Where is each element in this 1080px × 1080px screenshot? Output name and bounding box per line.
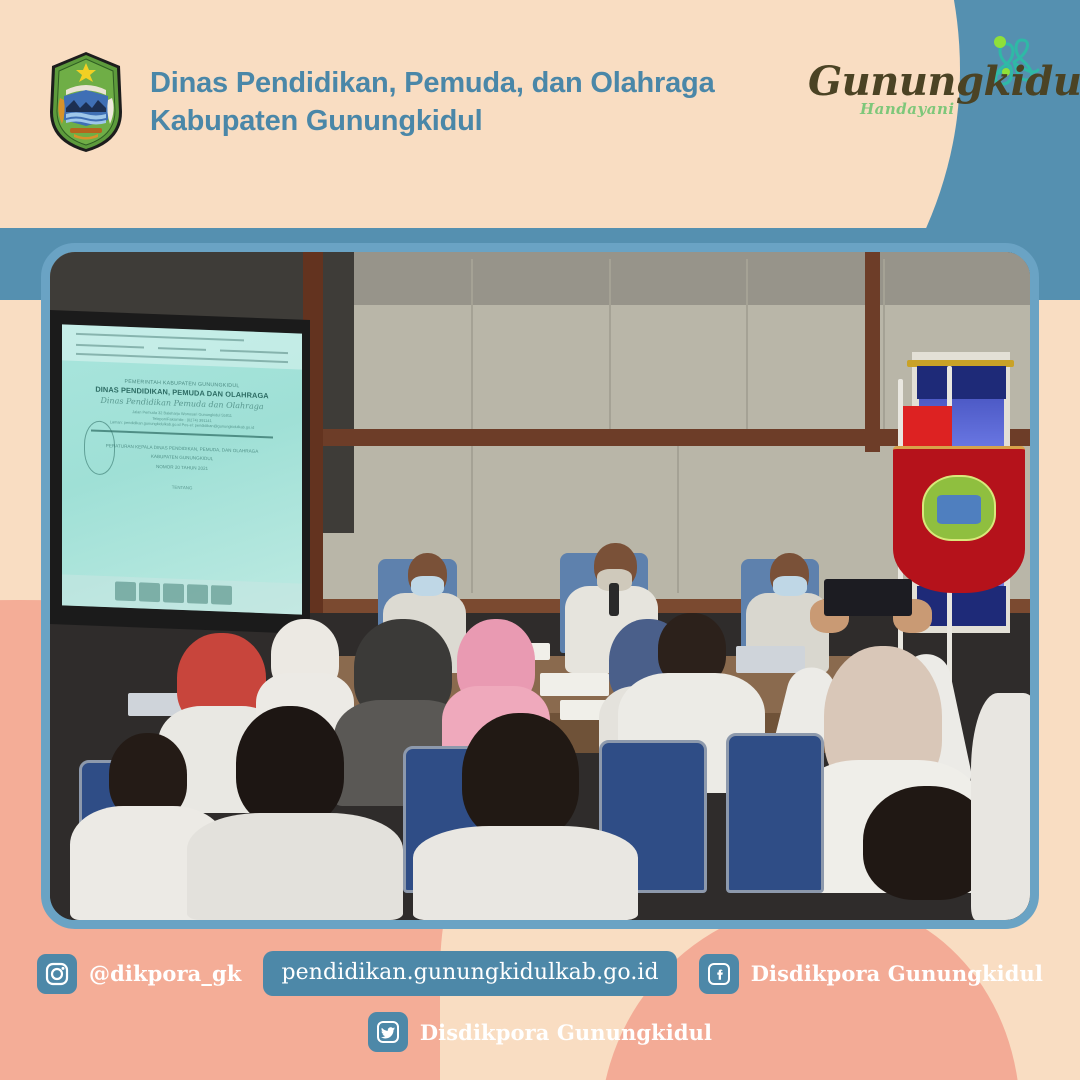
attendee-body (971, 693, 1039, 920)
gunungkidul-brand-mark: Gunungkidul Handayani (808, 42, 1038, 138)
banner-crest-icon (922, 475, 996, 541)
instagram-account[interactable]: @dikpora_gk (37, 954, 241, 994)
brand-wordmark: Gunungkidul (808, 58, 1080, 105)
wall-seam (471, 446, 473, 593)
chair (726, 733, 824, 893)
facebook-account[interactable]: Disdikpora Gunungkidul (699, 954, 1043, 994)
footer: @dikpora_gk pendidikan.gunungkidulkab.go… (0, 951, 1080, 1052)
instagram-icon[interactable] (37, 954, 77, 994)
facebook-icon[interactable] (699, 954, 739, 994)
table-box (540, 673, 609, 696)
attendee-head (236, 706, 344, 826)
twitter-account[interactable]: Disdikpora Gunungkidul (368, 1012, 712, 1052)
gunungkidul-coat-of-arms-icon (44, 50, 128, 154)
panel-speaker-right-mask (773, 576, 806, 596)
panel-speaker-left-mask (411, 576, 444, 596)
brand-tagline: Handayani (860, 100, 955, 118)
slide-content: PEMERINTAH KABUPATEN GUNUNGKIDUL DINAS P… (62, 366, 302, 580)
attendee-body (413, 826, 638, 920)
page-title: Dinas Pendidikan, Pemuda, dan Olahraga K… (150, 64, 715, 141)
wall-seam (471, 259, 473, 433)
slide-about-label: TENTANG (74, 480, 290, 493)
wall-seam (883, 259, 885, 433)
smartphone-camera (824, 579, 912, 616)
attendee-head (462, 713, 580, 840)
curtain-valance (917, 366, 1005, 399)
poster-canvas: Dinas Pendidikan, Pemuda, dan Olahraga K… (0, 0, 1080, 1080)
facebook-page-name: Disdikpora Gunungkidul (751, 961, 1043, 986)
footer-row-secondary: Disdikpora Gunungkidul (0, 1012, 1080, 1052)
twitter-icon[interactable] (368, 1012, 408, 1052)
slide-divider (91, 430, 273, 438)
wall-seam (746, 259, 748, 433)
wall-pillar-right (865, 252, 880, 452)
laptop (736, 646, 805, 673)
footer-row-primary: @dikpora_gk pendidikan.gunungkidulkab.go… (0, 951, 1080, 996)
ceremonial-banner (893, 446, 1025, 593)
microphone (609, 583, 620, 616)
ceiling (324, 252, 1030, 305)
attendee-body (187, 813, 403, 920)
instagram-handle: @dikpora_gk (89, 961, 241, 986)
header: Dinas Pendidikan, Pemuda, dan Olahraga K… (44, 50, 715, 154)
website-badge[interactable]: pendidikan.gunungkidulkab.go.id (263, 951, 676, 996)
banner-crest-book (937, 495, 982, 524)
wall-seam (609, 259, 611, 433)
wall-seam (677, 446, 679, 593)
projector-screen: PEMERINTAH KABUPATEN GUNUNGKIDUL DINAS P… (62, 324, 302, 614)
twitter-page-name: Disdikpora Gunungkidul (420, 1020, 712, 1045)
meeting-room-scene: PEMERINTAH KABUPATEN GUNUNGKIDUL DINAS P… (50, 252, 1030, 920)
event-photo: PEMERINTAH KABUPATEN GUNUNGKIDUL DINAS P… (41, 243, 1039, 929)
